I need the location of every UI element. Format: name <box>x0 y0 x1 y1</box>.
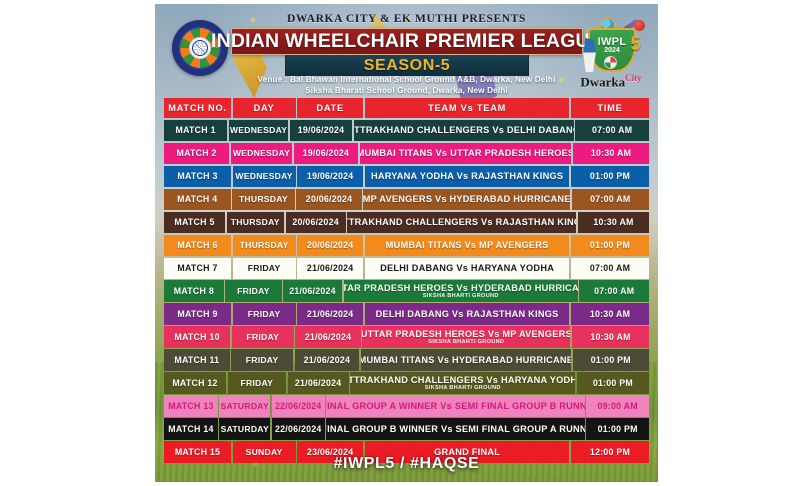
page-title: INDIAN WHEELCHAIR PREMIER LEAGUE <box>211 30 603 53</box>
table-row: MATCH 8FRIDAY21/06/2024UTTAR PRADESH HER… <box>164 280 649 301</box>
match-time: 10:30 AM <box>578 212 649 233</box>
match-date: 21/06/2024 <box>297 303 363 324</box>
column-header-day: DAY <box>233 98 296 118</box>
match-time-text: 07:00 AM <box>592 125 632 135</box>
match-day-text: FRIDAY <box>240 378 273 388</box>
match-number: MATCH 12 <box>164 372 226 393</box>
match-teams-text: MUMBAI TITANS Vs MP AVENGERS <box>386 240 549 250</box>
match-day: THURSDAY <box>233 235 296 256</box>
match-date-text: 19/06/2024 <box>307 171 354 181</box>
column-header-team: TEAM Vs TEAM <box>365 98 570 118</box>
match-number: MATCH 9 <box>164 303 231 324</box>
match-date: 21/06/2024 <box>288 372 349 393</box>
match-number: MATCH 14 <box>164 418 218 439</box>
tricolor-ball-icon <box>604 56 617 69</box>
table-row: MATCH 5THURSDAY20/06/2024UTTRAKHAND CHAL… <box>164 212 649 233</box>
match-teams: MUMBAI TITANS Vs HYDERABAD HURRICANE <box>361 349 571 370</box>
match-time: 10:30 AM <box>573 143 649 164</box>
match-day: SATURDAY <box>219 395 270 416</box>
table-row: MATCH 6THURSDAY20/06/2024MUMBAI TITANS V… <box>164 235 649 256</box>
match-day: FRIDAY <box>225 280 281 301</box>
match-date: 21/06/2024 <box>295 349 360 370</box>
match-teams-text: UTTRAKHAND CHALLENGERS Vs DELHI DABANG <box>354 125 574 135</box>
column-header-date: DATE <box>297 98 363 118</box>
match-number-text: MATCH 9 <box>177 309 217 319</box>
match-number: MATCH 11 <box>164 349 230 370</box>
table-row: MATCH 10FRIDAY21/06/2024UTTAR PRADESH HE… <box>164 326 649 347</box>
match-date-text: 19/06/2024 <box>303 148 350 158</box>
match-day: THURSDAY <box>232 189 295 210</box>
match-time: 01:00 PM <box>573 349 649 370</box>
match-number: MATCH 8 <box>164 280 224 301</box>
match-time: 07:00 AM <box>579 280 649 301</box>
match-number-text: MATCH 6 <box>177 240 217 250</box>
match-time-text: 09:00 AM <box>597 401 637 411</box>
match-time-text: 01:00 PM <box>590 240 630 250</box>
match-teams-text: MUMBAI TITANS Vs UTTAR PRADESH HEROES <box>360 148 572 158</box>
match-day: FRIDAY <box>233 258 296 279</box>
column-header-match-no: MATCH NO. <box>164 98 231 118</box>
match-date: 19/06/2024 <box>294 143 358 164</box>
match-day-text: FRIDAY <box>248 309 281 319</box>
match-teams: DELHI DABANG Vs HARYANA YODHA <box>365 258 570 279</box>
match-time: 01:00 PM <box>571 166 649 187</box>
match-number-text: MATCH 2 <box>177 148 217 158</box>
match-day-text: SATURDAY <box>221 401 269 411</box>
match-date: 22/06/2024 <box>272 395 325 416</box>
match-teams: SEMI FINAL GROUP A WINNER Vs SEMI FINAL … <box>326 395 584 416</box>
venue-line-1: Venue : Bal Bhawan International School … <box>195 75 618 86</box>
match-time: 09:00 AM <box>586 395 649 416</box>
table-row: MATCH 12FRIDAY21/06/2024UTTRAKHAND CHALL… <box>164 372 649 393</box>
table-row: MATCH 1WEDNESDAY19/06/2024UTTRAKHAND CHA… <box>164 120 649 141</box>
match-teams: MUMBAI TITANS Vs MP AVENGERS <box>365 235 570 256</box>
season-number: 5 <box>630 34 641 56</box>
match-venue-note: SIKSHA BHARTI GROUND <box>428 339 504 345</box>
match-time: 10:30 AM <box>571 303 649 324</box>
hashtag-footer: #IWPL5 / #HAQSE <box>155 455 658 473</box>
match-number: MATCH 2 <box>164 143 229 164</box>
match-number: MATCH 10 <box>164 326 230 347</box>
match-time-text: 10:30 AM <box>590 309 630 319</box>
match-number: MATCH 3 <box>164 166 231 187</box>
match-teams: MUMBAI TITANS Vs UTTAR PRADESH HEROES <box>360 143 572 164</box>
iwpl-shield-logo-icon: IWPL 2024 5 DwarkaCity <box>574 12 648 92</box>
match-teams: UTTRAKHAND CHALLENGERS Vs DELHI DABANG <box>354 120 574 141</box>
match-teams: UTTAR PRADESH HEROES Vs HYDERABAD HURRIC… <box>344 280 578 301</box>
match-date: 19/06/2024 <box>297 166 363 187</box>
match-date-text: 21/06/2024 <box>305 332 352 342</box>
match-day-text: FRIDAY <box>246 355 279 365</box>
match-number-text: MATCH 7 <box>177 263 217 273</box>
match-number-text: MATCH 11 <box>174 355 219 365</box>
dwarka-wordmark: DwarkaCity <box>574 73 648 90</box>
match-number-text: MATCH 10 <box>174 332 219 342</box>
match-teams: SEMI FINAL GROUP B WINNER Vs SEMI FINAL … <box>326 418 584 439</box>
match-day-text: WEDNESDAY <box>230 125 287 135</box>
match-number-text: MATCH 14 <box>168 424 213 434</box>
match-day: FRIDAY <box>228 372 286 393</box>
venue-line-2: Siksha Bharati School Ground, Dwarka, Ne… <box>195 86 618 97</box>
table-row: MATCH 4THURSDAY20/06/2024MP AVENGERS Vs … <box>164 189 649 210</box>
match-time: 07:00 AM <box>571 258 649 279</box>
match-time-text: 07:00 AM <box>594 286 634 296</box>
match-day: THURSDAY <box>227 212 284 233</box>
match-venue-note: SIKSHA BHARTI GROUND <box>425 385 501 391</box>
match-day-text: FRIDAY <box>248 263 281 273</box>
match-day-text: FRIDAY <box>246 332 279 342</box>
table-row: MATCH 2WEDNESDAY19/06/2024MUMBAI TITANS … <box>164 143 649 164</box>
match-day-text: SATURDAY <box>221 424 269 434</box>
match-number-text: MATCH 13 <box>168 401 213 411</box>
match-date-text: 20/06/2024 <box>292 217 339 227</box>
table-row: MATCH 3WEDNESDAY19/06/2024HARYANA YODHA … <box>164 166 649 187</box>
match-teams-text: UTTRAKHAND CHALLENGERS Vs HARYANA YODHA <box>350 375 575 385</box>
match-date: 20/06/2024 <box>297 235 363 256</box>
logo-year: 2024 <box>592 47 632 54</box>
table-row: MATCH 14SATURDAY22/06/2024SEMI FINAL GRO… <box>164 418 649 439</box>
match-teams: DELHI DABANG Vs RAJASTHAN KINGS <box>365 303 570 324</box>
match-teams: UTTAR PRADESH HEROES Vs MP AVENGERSSIKSH… <box>362 326 570 347</box>
match-date: 21/06/2024 <box>283 280 342 301</box>
match-time: 01:00 PM <box>571 235 649 256</box>
table-header-row: MATCH NO. DAY DATE TEAM Vs TEAM TIME <box>164 98 649 118</box>
match-date: 20/06/2024 <box>286 212 346 233</box>
match-day-text: WEDNESDAY <box>233 148 290 158</box>
iwpl-schedule-poster: DWARKA CITY & EK MUTHI PRESENTS INDIAN W… <box>155 4 658 482</box>
match-date-text: 21/06/2024 <box>289 286 336 296</box>
match-number-text: MATCH 12 <box>172 378 217 388</box>
match-day-text: THURSDAY <box>239 194 288 204</box>
match-number: MATCH 6 <box>164 235 231 256</box>
match-teams-text: UTTRAKHAND CHALLENGERS Vs RAJASTHAN KING… <box>347 217 576 227</box>
match-number-text: MATCH 4 <box>177 194 217 204</box>
match-number-text: MATCH 5 <box>174 217 214 227</box>
match-date-text: 22/06/2024 <box>275 401 322 411</box>
match-day-text: THURSDAY <box>231 217 280 227</box>
match-date-text: 20/06/2024 <box>307 240 354 250</box>
match-teams-text: DELHI DABANG Vs HARYANA YODHA <box>380 263 554 273</box>
match-time-text: 01:00 PM <box>593 378 633 388</box>
match-time-text: 10:30 AM <box>591 148 631 158</box>
match-date-text: 22/06/2024 <box>275 424 322 434</box>
match-teams-text: UTTAR PRADESH HEROES Vs HYDERABAD HURRIC… <box>344 283 578 293</box>
match-date: 21/06/2024 <box>295 326 360 347</box>
match-date-text: 20/06/2024 <box>306 194 353 204</box>
match-day: FRIDAY <box>233 303 296 324</box>
match-time-text: 10:30 AM <box>590 332 630 342</box>
season-label: SEASON-5 <box>364 57 451 75</box>
match-time-text: 01:00 PM <box>590 171 630 181</box>
match-teams-text: HARYANA YODHA Vs RAJASTHAN KINGS <box>371 171 563 181</box>
match-time-text: 01:00 PM <box>591 355 631 365</box>
match-date-text: 21/06/2024 <box>307 309 354 319</box>
match-time: 10:30 AM <box>572 326 649 347</box>
table-row: MATCH 9FRIDAY21/06/2024DELHI DABANG Vs R… <box>164 303 649 324</box>
match-teams-text: MUMBAI TITANS Vs HYDERABAD HURRICANE <box>361 355 571 365</box>
match-day-text: FRIDAY <box>237 286 270 296</box>
match-date-text: 21/06/2024 <box>304 355 351 365</box>
match-teams: HARYANA YODHA Vs RAJASTHAN KINGS <box>365 166 570 187</box>
column-header-time: TIME <box>571 98 649 118</box>
match-number: MATCH 4 <box>164 189 231 210</box>
match-time-text: 01:00 PM <box>598 424 638 434</box>
table-row: MATCH 7FRIDAY21/06/2024DELHI DABANG Vs H… <box>164 258 649 279</box>
match-time-text: 07:00 AM <box>590 263 630 273</box>
match-number-text: MATCH 1 <box>176 125 216 135</box>
match-teams: UTTRAKHAND CHALLENGERS Vs RAJASTHAN KING… <box>347 212 576 233</box>
match-time: 01:00 PM <box>586 418 649 439</box>
match-number: MATCH 5 <box>164 212 225 233</box>
match-teams: MP AVENGERS Vs HYDERABAD HURRICANE <box>363 189 570 210</box>
match-day: FRIDAY <box>231 349 293 370</box>
match-number: MATCH 13 <box>164 395 218 416</box>
match-day: WEDNESDAY <box>233 166 296 187</box>
match-date: 20/06/2024 <box>296 189 362 210</box>
match-time: 07:00 AM <box>575 120 649 141</box>
match-date-text: 21/06/2024 <box>307 263 354 273</box>
poster-header: DWARKA CITY & EK MUTHI PRESENTS INDIAN W… <box>155 4 658 96</box>
match-day-text: WEDNESDAY <box>235 171 292 181</box>
match-day: WEDNESDAY <box>231 143 292 164</box>
match-day: WEDNESDAY <box>229 120 288 141</box>
match-date: 22/06/2024 <box>272 418 325 439</box>
match-number-text: MATCH 8 <box>174 286 214 296</box>
match-teams-text: UTTAR PRADESH HEROES Vs MP AVENGERS <box>362 329 570 339</box>
match-time-text: 07:00 AM <box>590 194 630 204</box>
table-row: MATCH 13SATURDAY22/06/2024SEMI FINAL GRO… <box>164 395 649 416</box>
match-number-text: MATCH 3 <box>177 171 217 181</box>
match-date: 19/06/2024 <box>290 120 352 141</box>
match-date: 21/06/2024 <box>297 258 363 279</box>
table-row: MATCH 11FRIDAY21/06/2024MUMBAI TITANS Vs… <box>164 349 649 370</box>
match-schedule-table: MATCH NO. DAY DATE TEAM Vs TEAM TIME MAT… <box>164 98 649 464</box>
venue-info: Venue : Bal Bhawan International School … <box>195 75 618 96</box>
match-time: 01:00 PM <box>577 372 649 393</box>
match-teams-text: MP AVENGERS Vs HYDERABAD HURRICANE <box>363 194 570 204</box>
match-day: SATURDAY <box>219 418 270 439</box>
league-title-banner: INDIAN WHEELCHAIR PREMIER LEAGUE <box>231 28 583 55</box>
match-date-text: 21/06/2024 <box>295 378 342 388</box>
match-teams-text: SEMI FINAL GROUP A WINNER Vs SEMI FINAL … <box>326 401 584 411</box>
match-venue-note: SIKSHA BHARTI GROUND <box>423 293 499 299</box>
match-number: MATCH 7 <box>164 258 231 279</box>
match-day: FRIDAY <box>232 326 294 347</box>
match-day-text: THURSDAY <box>240 240 289 250</box>
match-time: 07:00 AM <box>572 189 649 210</box>
season-banner: SEASON-5 <box>285 55 529 76</box>
match-teams-text: SEMI FINAL GROUP B WINNER Vs SEMI FINAL … <box>326 424 584 434</box>
match-time-text: 10:30 AM <box>593 217 633 227</box>
match-teams-text: DELHI DABANG Vs RAJASTHAN KINGS <box>376 309 559 319</box>
match-number: MATCH 1 <box>164 120 227 141</box>
screenshot-canvas: DWARKA CITY & EK MUTHI PRESENTS INDIAN W… <box>0 0 810 486</box>
match-teams: UTTRAKHAND CHALLENGERS Vs HARYANA YODHAS… <box>350 372 575 393</box>
match-date-text: 19/06/2024 <box>298 125 345 135</box>
